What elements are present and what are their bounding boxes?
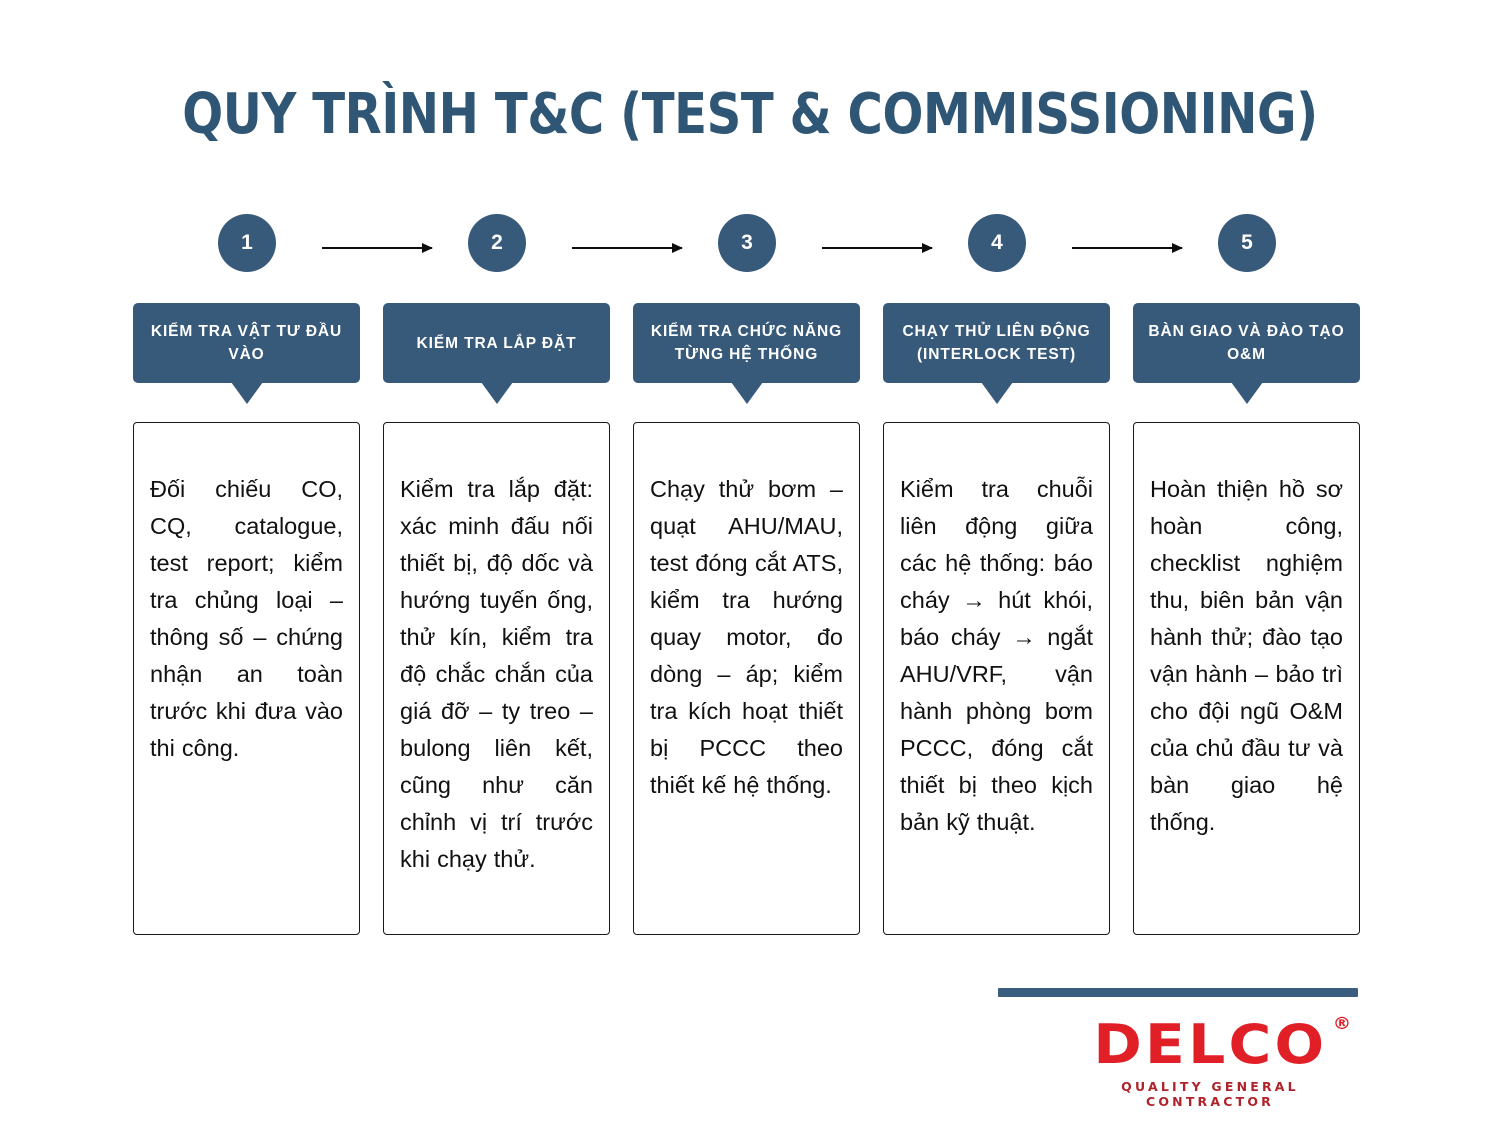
bubble-tail-icon <box>731 382 763 404</box>
bubble-tail-icon <box>231 382 263 404</box>
delco-logo: DELCO ® QUALITY GENERAL CONTRACTOR <box>1060 1018 1360 1109</box>
registered-trademark-icon: ® <box>1332 1016 1350 1033</box>
step-header-4[interactable]: CHẠY THỬ LIÊN ĐỘNG (INTERLOCK TEST) <box>883 303 1110 383</box>
bubble-tail-icon <box>481 382 513 404</box>
page-title: QUY TRÌNH T&C (TEST & COMMISSIONING) <box>105 82 1395 148</box>
step-body-box-3: Chạy thử bơm – quạt AHU/MAU, test đóng c… <box>633 422 860 935</box>
step-node-3[interactable]: 3 <box>718 214 776 272</box>
step-body-box-2: Kiểm tra lắp đặt: xác minh đấu nối thiết… <box>383 422 610 935</box>
step-arrow-3-to-4 <box>822 242 932 254</box>
logo-word-text: DELCO <box>1093 1013 1327 1076</box>
step-number-3: 3 <box>718 214 776 272</box>
step-header-3[interactable]: KIỂM TRA CHỨC NĂNG TỪNG HỆ THỐNG <box>633 303 860 383</box>
arrow-shaft <box>572 247 682 249</box>
step-header-label-3: KIỂM TRA CHỨC NĂNG TỪNG HỆ THỐNG <box>645 320 848 366</box>
arrow-shaft <box>322 247 432 249</box>
logo-tagline: QUALITY GENERAL CONTRACTOR <box>1060 1079 1360 1109</box>
step-body-box-4: Kiểm tra chuỗi liên động giữa các hệ thố… <box>883 422 1110 935</box>
step-body-text-4: Kiểm tra chuỗi liên động giữa các hệ thố… <box>900 471 1093 841</box>
step-node-2[interactable]: 2 <box>468 214 526 272</box>
arrow-head <box>422 243 433 253</box>
step-header-5[interactable]: BÀN GIAO VÀ ĐÀO TẠO O&M <box>1133 303 1360 383</box>
logo-wordmark: DELCO ® <box>1093 1018 1327 1072</box>
step-node-4[interactable]: 4 <box>968 214 1026 272</box>
step-body-text-5: Hoàn thiện hồ sơ hoàn công, checklist ng… <box>1150 471 1343 841</box>
step-number-5: 5 <box>1218 214 1276 272</box>
step-header-label-4: CHẠY THỬ LIÊN ĐỘNG (INTERLOCK TEST) <box>895 320 1098 366</box>
bubble-tail-icon <box>981 382 1013 404</box>
step-header-label-5: BÀN GIAO VÀ ĐÀO TẠO O&M <box>1145 320 1348 366</box>
bubble-tail-icon <box>1231 382 1263 404</box>
step-number-2: 2 <box>468 214 526 272</box>
arrow-head <box>922 243 933 253</box>
arrow-shaft <box>822 247 932 249</box>
step-node-5[interactable]: 5 <box>1218 214 1276 272</box>
step-body-text-3: Chạy thử bơm – quạt AHU/MAU, test đóng c… <box>650 471 843 804</box>
step-arrow-4-to-5 <box>1072 242 1182 254</box>
logo-divider-bar <box>998 988 1358 997</box>
step-header-label-1: KIỂM TRA VẬT TƯ ĐẦU VÀO <box>145 320 348 366</box>
step-body-text-1: Đối chiếu CO, CQ, catalogue, test report… <box>150 471 343 767</box>
step-number-1: 1 <box>218 214 276 272</box>
step-arrow-2-to-3 <box>572 242 682 254</box>
step-header-2[interactable]: KIỂM TRA LẮP ĐẶT <box>383 303 610 383</box>
step-body-text-2: Kiểm tra lắp đặt: xác minh đấu nối thiết… <box>400 471 593 878</box>
step-number-4: 4 <box>968 214 1026 272</box>
infographic-canvas: QUY TRÌNH T&C (TEST & COMMISSIONING) 1 2… <box>0 0 1500 1125</box>
step-arrow-1-to-2 <box>322 242 432 254</box>
step-node-1[interactable]: 1 <box>218 214 276 272</box>
arrow-shaft <box>1072 247 1182 249</box>
step-header-1[interactable]: KIỂM TRA VẬT TƯ ĐẦU VÀO <box>133 303 360 383</box>
arrow-head <box>672 243 683 253</box>
step-indicator-row: 1 2 3 4 5 <box>132 214 1364 272</box>
arrow-head <box>1172 243 1183 253</box>
step-body-box-5: Hoàn thiện hồ sơ hoàn công, checklist ng… <box>1133 422 1360 935</box>
step-body-box-1: Đối chiếu CO, CQ, catalogue, test report… <box>133 422 360 935</box>
step-header-label-2: KIỂM TRA LẮP ĐẶT <box>417 332 577 355</box>
